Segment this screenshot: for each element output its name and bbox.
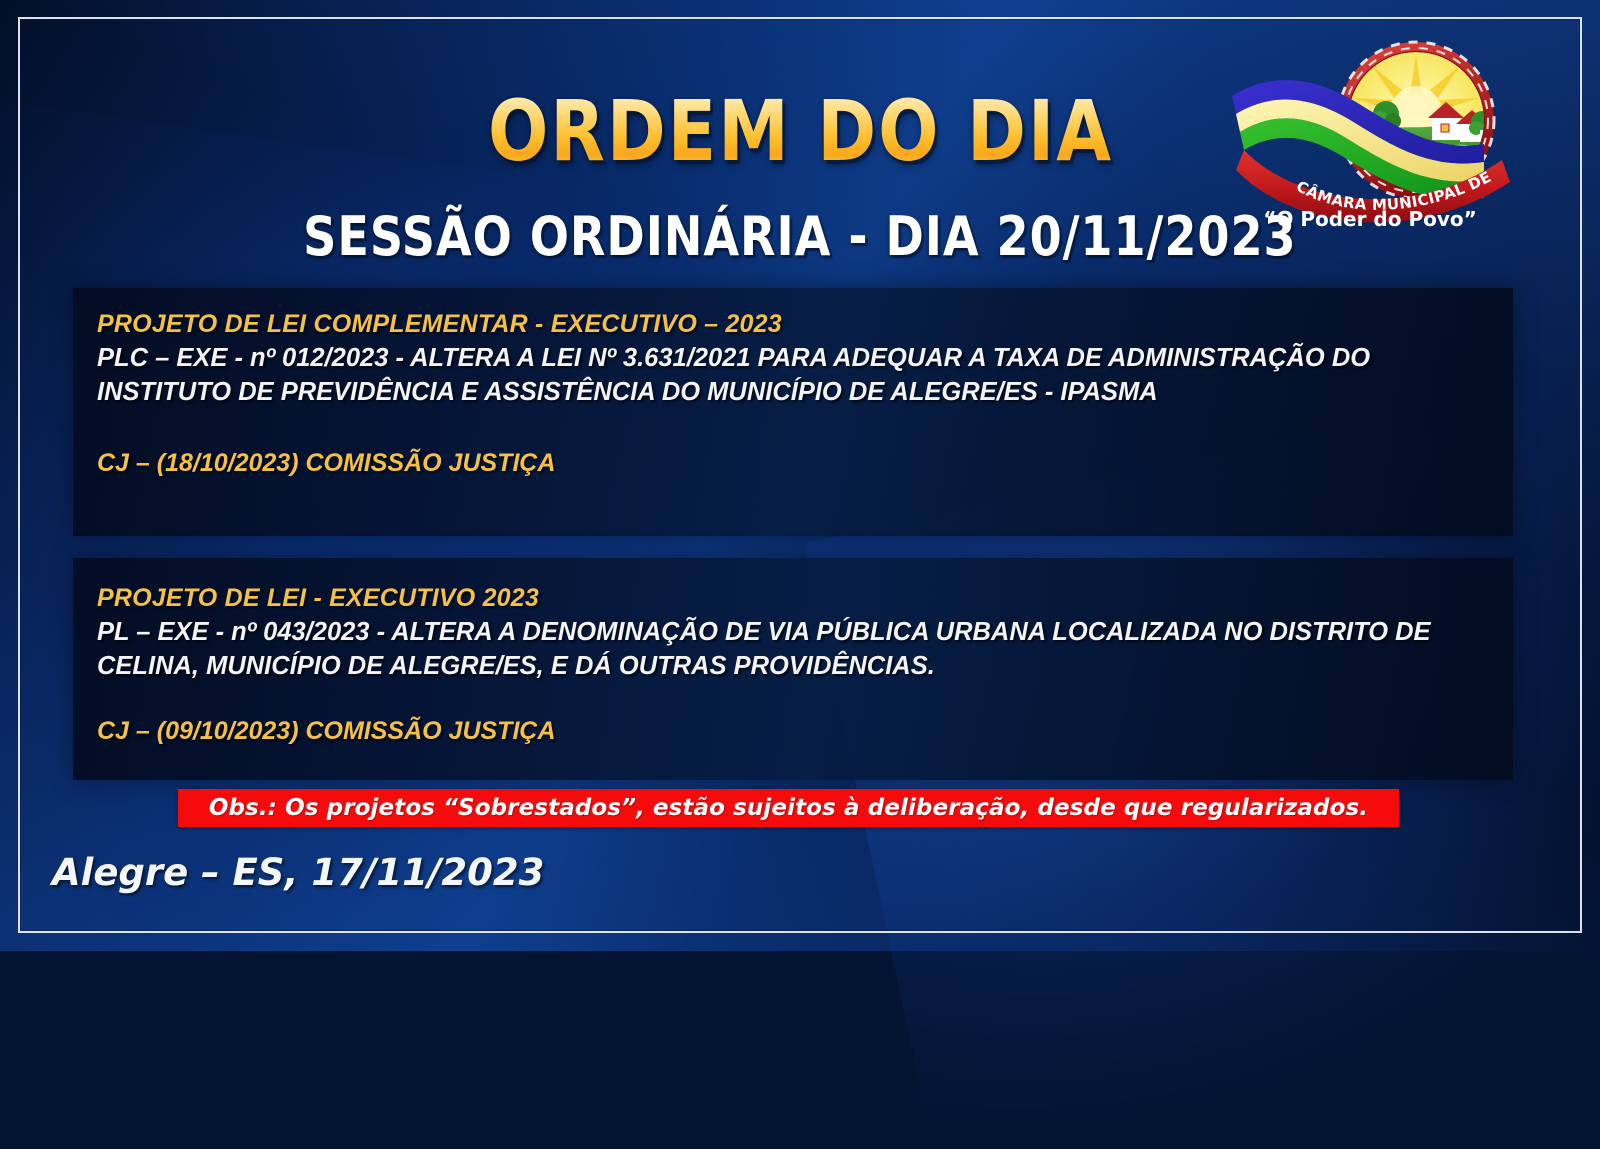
item-1-commission: CJ – (18/10/2023) COMISSÃO JUSTIÇA <box>97 449 1487 478</box>
item-2-description: PL – EXE - nº 043/2023 - ALTERA A DENOMI… <box>97 616 1487 683</box>
footer-location-date: Alegre – ES, 17/11/2023 <box>52 851 544 894</box>
item-2-commission: CJ – (09/10/2023) COMISSÃO JUSTIÇA <box>97 717 1487 746</box>
agenda-item-panel-2: PROJETO DE LEI - EXECUTIVO 2023 PL – EXE… <box>73 558 1513 780</box>
camara-municipal-logo: CÂMARA MUNICIPAL DE ALEGRE - ES “O Poder… <box>1210 36 1530 241</box>
item-1-description: PLC – EXE - nº 012/2023 - ALTERA A LEI N… <box>97 342 1487 409</box>
item-2-heading: PROJETO DE LEI - EXECUTIVO 2023 <box>97 584 1487 613</box>
observation-text: Obs.: Os projetos “Sobrestados”, estão s… <box>209 795 1368 821</box>
agenda-item-panel-1: PROJETO DE LEI COMPLEMENTAR - EXECUTIVO … <box>73 288 1513 536</box>
page-subtitle: SESSÃO ORDINÁRIA - DIA 20/11/2023 <box>303 205 1296 268</box>
page-title: ORDEM DO DIA <box>487 92 1112 172</box>
item-1-heading: PROJETO DE LEI COMPLEMENTAR - EXECUTIVO … <box>97 310 1487 339</box>
slide-canvas: ORDEM DO DIA SESSÃO ORDINÁRIA - DIA 20/1… <box>0 0 1600 951</box>
observation-banner: Obs.: Os projetos “Sobrestados”, estão s… <box>178 789 1399 827</box>
logo-motto: “O Poder do Povo” <box>1263 207 1477 231</box>
